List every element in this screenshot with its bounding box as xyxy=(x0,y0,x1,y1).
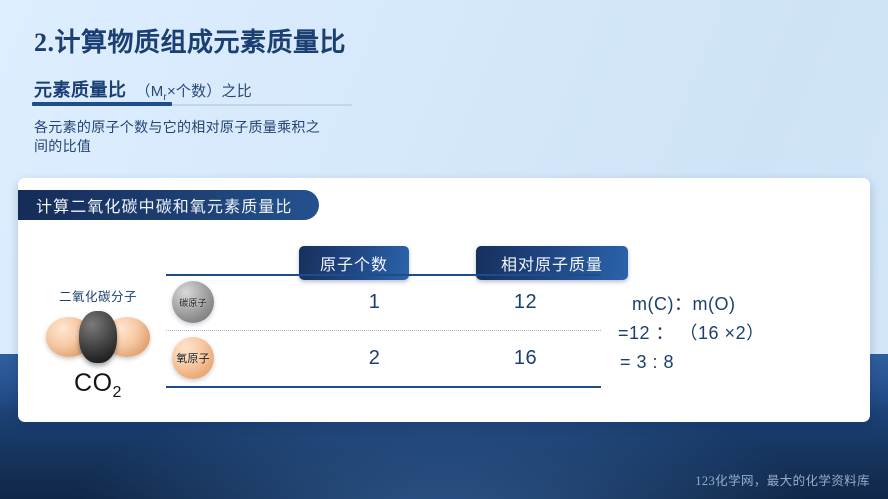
watermark-text: 123化学网，最大的化学资料库 xyxy=(695,470,870,489)
molecule-illustration: 二氧化碳分子 CO2 xyxy=(34,286,162,402)
card-banner-title: 计算二氧化碳中碳和氧元素质量比 xyxy=(18,190,319,220)
table-cell-atom: 氧原子 xyxy=(166,337,299,379)
molecule-formula: CO2 xyxy=(34,369,162,402)
subtitle-strong: 元素质量比 xyxy=(34,76,127,102)
calculation-line-1: m(C)：m(O) xyxy=(618,290,765,319)
table-cell-mass: 16 xyxy=(450,347,601,370)
molecule-art xyxy=(46,311,150,363)
table-cell-atom: 碳原子 xyxy=(166,281,299,323)
table-row: 碳原子 1 12 xyxy=(166,274,601,330)
data-table: 碳原子 1 12 氧原子 2 16 xyxy=(166,274,601,388)
subtitle-rest-post: ×个数）之比 xyxy=(167,83,252,100)
carbon-atom-center-icon xyxy=(79,311,117,363)
table-cell-count: 2 xyxy=(299,347,450,370)
table-cell-mass: 12 xyxy=(450,291,601,314)
molecule-formula-sub: 2 xyxy=(113,384,122,401)
subtitle-rest-pre: （M xyxy=(136,83,164,100)
description-text: 各元素的原子个数与它的相对原子质量乘积之间的比值 xyxy=(34,118,334,156)
calculation-line-3: = 3 : 8 xyxy=(618,348,765,377)
content-card: 计算二氧化碳中碳和氧元素质量比 二氧化碳分子 CO2 原子个数 相对原子质量 碳… xyxy=(18,178,870,422)
molecule-label: 二氧化碳分子 xyxy=(34,286,162,305)
table-row: 氧原子 2 16 xyxy=(166,330,601,386)
table-bottom-rule xyxy=(166,386,601,388)
calculation-line-2: =12 ： （16 ×2） xyxy=(618,319,765,348)
calculation-block: m(C)：m(O) =12 ： （16 ×2） = 3 : 8 xyxy=(618,290,765,377)
oxygen-atom-icon: 氧原子 xyxy=(172,337,214,379)
subtitle-underline-accent xyxy=(32,102,172,106)
molecule-formula-main: CO xyxy=(74,369,113,397)
subtitle-row: 元素质量比 （Mr×个数）之比 xyxy=(34,76,252,103)
slide-canvas: 123化学网，最大的化学资料库 2.计算物质组成元素质量比 元素质量比 （Mr×… xyxy=(0,0,888,499)
table-cell-count: 1 xyxy=(299,291,450,314)
page-title: 2.计算物质组成元素质量比 xyxy=(34,22,346,59)
subtitle-rest: （Mr×个数）之比 xyxy=(136,80,252,103)
carbon-atom-icon: 碳原子 xyxy=(172,281,214,323)
